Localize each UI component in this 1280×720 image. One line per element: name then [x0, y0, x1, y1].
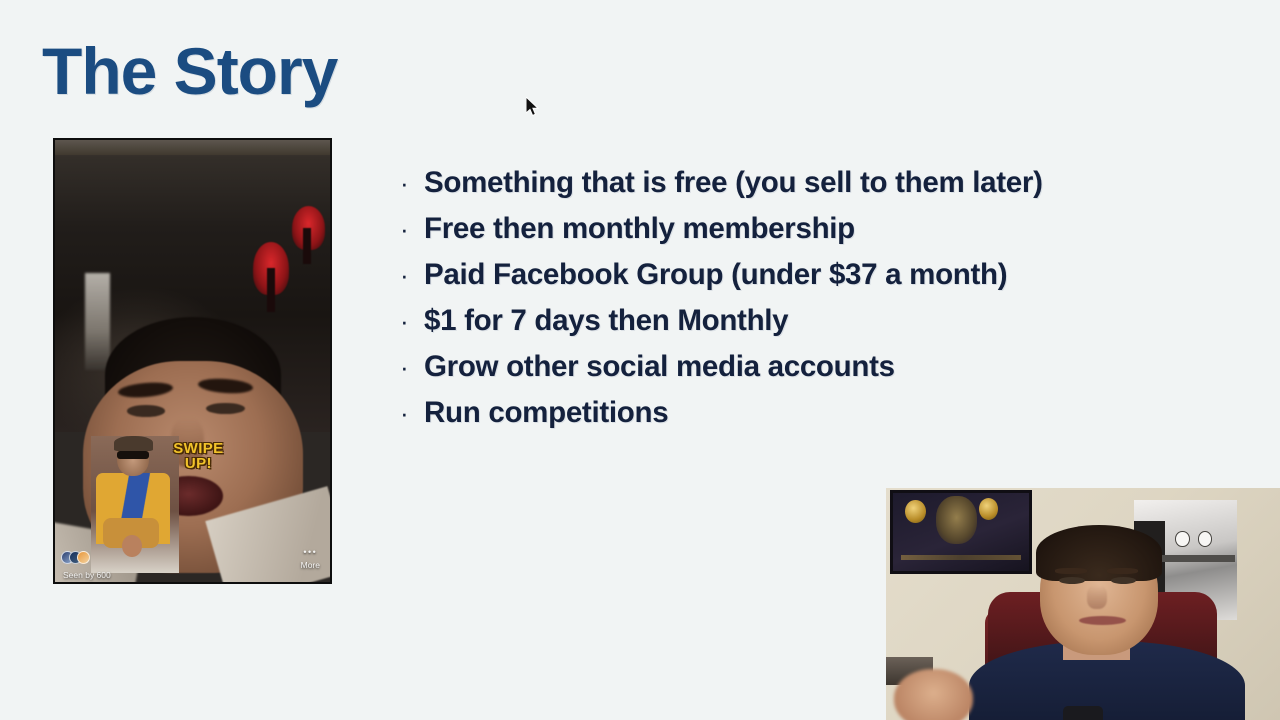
- bullet-marker-icon: ·: [400, 400, 424, 426]
- bullet-text: Free then monthly membership: [424, 212, 855, 246]
- inset-person-glasses-icon: [117, 451, 149, 459]
- viewer-avatars: [61, 551, 85, 564]
- list-item: · Grow other social media accounts: [400, 350, 1120, 396]
- wall-poster-frame: [890, 490, 1032, 574]
- bullet-text: Grow other social media accounts: [424, 350, 895, 384]
- list-item: · Something that is free (you sell to th…: [400, 166, 1120, 212]
- swipe-up-overlay-text: SWIPEUP!: [173, 441, 223, 471]
- bullet-marker-icon: ·: [400, 216, 424, 242]
- bullet-marker-icon: ·: [400, 170, 424, 196]
- bullet-text: Run competitions: [424, 396, 668, 430]
- poster-medallion-icon: [905, 500, 925, 523]
- phone-ceiling-bar: [55, 140, 330, 155]
- list-item: · Free then monthly membership: [400, 212, 1120, 258]
- inset-person-hat: [114, 436, 154, 451]
- more-label: More: [301, 560, 320, 570]
- page-title: The Story: [42, 38, 337, 104]
- photo-porthole-icon: [1198, 531, 1212, 547]
- list-item: · Paid Facebook Group (under $37 a month…: [400, 258, 1120, 304]
- list-item: · Run competitions: [400, 396, 1120, 442]
- seen-by-label: Seen by 600: [63, 570, 111, 580]
- presenter-webcam-video[interactable]: [886, 488, 1280, 720]
- phone-door-light: [85, 273, 110, 370]
- bullet-text: $1 for 7 days then Monthly: [424, 304, 788, 338]
- bullet-text: Paid Facebook Group (under $37 a month): [424, 258, 1007, 292]
- phone-story-screenshot: SWIPEUP! Seen by 600 ••• More: [53, 138, 332, 584]
- bullet-marker-icon: ·: [400, 262, 424, 288]
- bullet-marker-icon: ·: [400, 308, 424, 334]
- inset-person-hand: [122, 535, 141, 557]
- microphone-icon: [1063, 706, 1102, 720]
- phone-subject-eye: [127, 405, 166, 416]
- presenter-hand: [894, 669, 973, 720]
- phone-inset-video: [91, 436, 179, 573]
- list-item: · $1 for 7 days then Monthly: [400, 304, 1120, 350]
- poster-text-band: [901, 555, 1021, 560]
- presenter-mouth: [1079, 616, 1126, 625]
- presenter-brow: [1107, 568, 1139, 574]
- poster-medallion-icon: [979, 498, 998, 520]
- presenter-nose: [1087, 585, 1107, 608]
- poster-portrait-art: [936, 496, 977, 544]
- bullet-text: Something that is free (you sell to them…: [424, 166, 1043, 200]
- bullet-list: · Something that is free (you sell to th…: [400, 166, 1120, 442]
- more-button[interactable]: ••• More: [301, 548, 320, 570]
- phone-lamp-stem: [303, 228, 311, 263]
- avatar: [77, 551, 90, 564]
- bullet-marker-icon: ·: [400, 354, 424, 380]
- photo-porthole-icon: [1175, 531, 1189, 547]
- mouse-cursor-icon: [526, 97, 540, 117]
- presenter-brow: [1055, 568, 1087, 574]
- more-dots-icon: •••: [301, 548, 320, 557]
- seen-by-group: Seen by 600: [61, 551, 85, 567]
- photo-band: [1161, 555, 1235, 562]
- phone-lamp-stem: [267, 268, 275, 312]
